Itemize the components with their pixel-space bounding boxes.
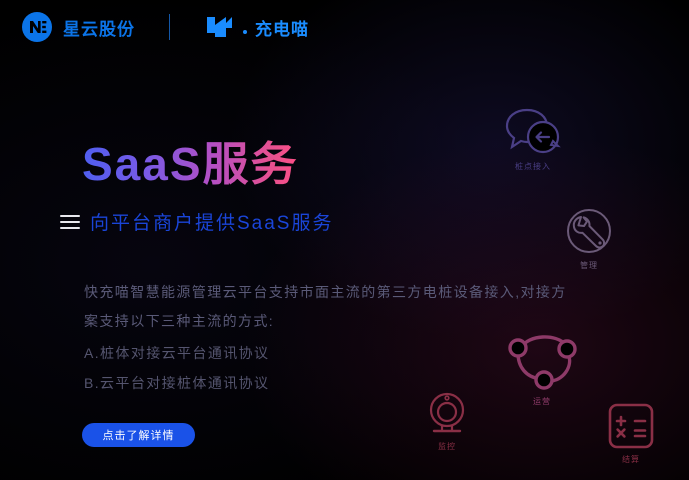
learn-more-button[interactable]: 点击了解详情 <box>82 423 195 447</box>
protocol-list: A.桩体对接云平台通讯协议 B.云平台对接桩体通讯协议 <box>84 338 269 398</box>
body-paragraph: 快充喵智慧能源管理云平台支持市面主流的第三方电桩设备接入,对接方案支持以下三种主… <box>84 278 576 336</box>
decoration-settlement: 结算 <box>606 401 656 465</box>
list-item: A.桩体对接云平台通讯协议 <box>84 338 269 368</box>
brand-primary[interactable]: 星云股份 <box>22 12 135 42</box>
brand-secondary-name: 充电喵 <box>255 15 309 40</box>
decoration-label: 结算 <box>622 454 640 465</box>
hamburger-icon <box>60 215 80 229</box>
cat-face-logo-icon <box>206 16 240 38</box>
decoration-monitoring: 监控 <box>424 390 470 452</box>
decoration-label: 管理 <box>580 260 598 271</box>
subtitle-row: 向平台商户提供SaaS服务 <box>60 208 333 235</box>
page-title: SaaS服务 <box>82 128 299 194</box>
list-item: B.云平台对接桩体通讯协议 <box>84 368 269 398</box>
header-divider <box>169 14 170 40</box>
decoration-operations: 运营 <box>504 327 580 407</box>
header-bar: 星云股份 充电喵 <box>0 0 689 54</box>
network-nodes-icon <box>504 327 580 393</box>
brand-primary-name: 星云股份 <box>63 15 135 40</box>
ne-circle-logo-icon <box>22 12 52 42</box>
calculator-icon <box>606 401 656 451</box>
page-root: 星云股份 充电喵 SaaS服务 向平台商户提供SaaS服务 快充喵智慧能源管理云… <box>0 0 689 480</box>
page-subtitle: 向平台商户提供SaaS服务 <box>90 208 333 235</box>
decoration-label: 桩点接入 <box>515 161 551 172</box>
brand-secondary[interactable]: 充电喵 <box>206 15 309 40</box>
decoration-management: 管理 <box>563 207 615 271</box>
decoration-label: 运营 <box>533 396 551 407</box>
camera-monitor-icon <box>424 390 470 438</box>
decoration-label: 监控 <box>438 441 456 452</box>
chat-bubbles-icon <box>503 106 563 158</box>
decoration-pile-access: 桩点接入 <box>503 106 563 172</box>
cat-logo-dot-icon <box>243 30 247 34</box>
wrench-icon <box>563 207 615 257</box>
